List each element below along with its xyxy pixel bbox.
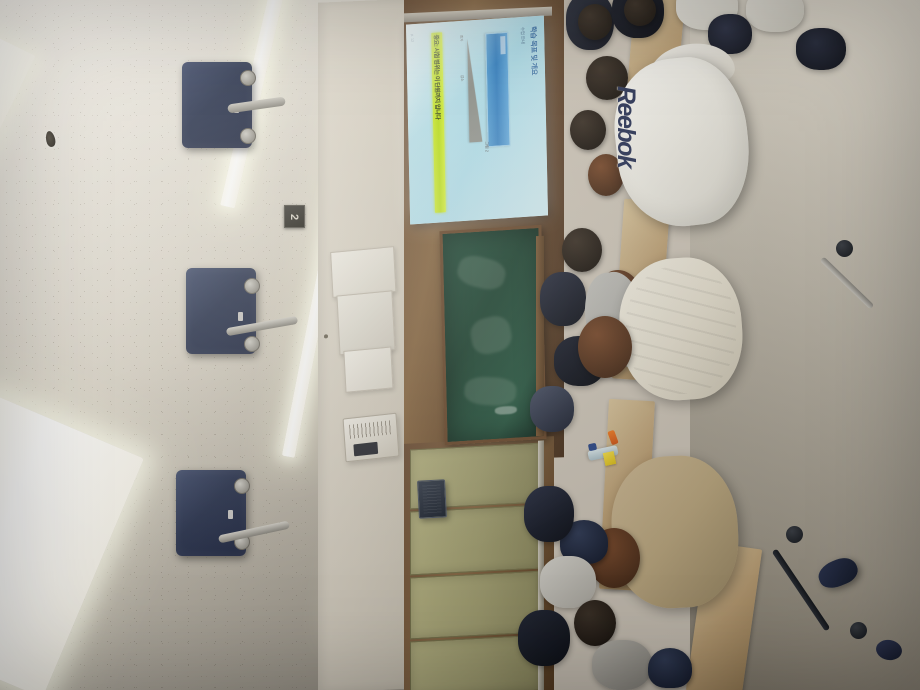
- chair-label: [238, 312, 243, 321]
- person-head: [570, 110, 606, 150]
- ac-display-panel: [353, 442, 378, 457]
- wall-fixture-dot: [324, 334, 328, 338]
- speaker-grille-icon: [422, 485, 441, 514]
- wall-notice-3: [343, 346, 393, 392]
- slide-grey-wedge: [467, 38, 482, 143]
- chair-caster: [836, 240, 853, 257]
- chair-knob: [234, 478, 250, 494]
- wall-notices: [328, 246, 408, 402]
- reebok-brand-text: Reebok: [611, 86, 640, 167]
- slide-highlight-bar: 중요: 시험 범위는 이 단원까지 입니다: [431, 32, 446, 213]
- chair-caster: [850, 622, 867, 639]
- photograph-lecture-hall: 2 2 학습 목표 및 개요 수업 안내 그림 2 감소: [0, 0, 920, 690]
- chair-knob: [240, 128, 256, 144]
- slide-highlight-text: 중요: 시험 범위는 이 단원까지 입니다: [432, 32, 443, 119]
- chair-label: [228, 510, 233, 519]
- room-number-sign: 2: [284, 205, 305, 228]
- slide-figure-label: 그림 2: [483, 141, 489, 152]
- person-head: [578, 4, 612, 40]
- slide-wedge-note-b: 증가: [458, 35, 463, 42]
- chair-knob: [240, 70, 256, 86]
- wall-air-conditioner: [343, 413, 400, 463]
- student-tan-coat-head: [588, 528, 640, 588]
- room-number-text: 2: [289, 213, 301, 219]
- seated-person: [796, 28, 846, 70]
- sticky-note: [603, 451, 616, 466]
- puffer-quilting: [626, 266, 736, 394]
- slide-page-number: p. 12: [410, 34, 414, 42]
- chair-caster: [786, 526, 803, 543]
- wall-notice-2: [336, 290, 395, 355]
- seated-person: [746, 0, 804, 32]
- chair-knob: [244, 336, 260, 352]
- ac-grille-icon: [349, 420, 392, 439]
- ceiling-speaker: [417, 479, 447, 518]
- student-cream-puffer-head: [578, 316, 632, 378]
- chair-knob: [244, 278, 260, 294]
- slide-wedge-note-a: 감소: [459, 75, 464, 82]
